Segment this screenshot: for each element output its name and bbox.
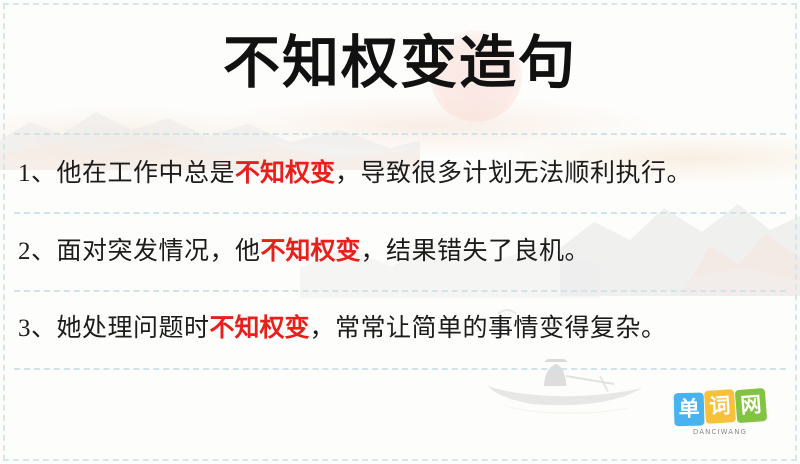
idiom-highlight-1: 不知权变: [235, 158, 335, 187]
sentence-row-3: 3、她处理问题时不知权变，常常让简单的事情变得复杂。: [18, 312, 784, 344]
separator-line-4: [14, 368, 786, 370]
separator-line-2: [14, 212, 786, 214]
sentence-text-before-1: 他在工作中总是: [57, 160, 236, 187]
sentence-text-after-1: ，导致很多计划无法顺利执行。: [335, 160, 692, 187]
slide-page: 不知权变造句 1、他在工作中总是不知权变，导致很多计划无法顺利执行。 2、面对突…: [0, 0, 800, 464]
sentence-text-before-3: 她处理问题时: [57, 315, 210, 342]
sentence-index-1: 1、: [18, 160, 57, 187]
logo-subtitle: DANCIWANG: [672, 428, 768, 436]
sentence-text-after-3: ，常常让简单的事情变得复杂。: [310, 315, 667, 342]
logo-tile-1: 单: [674, 393, 705, 427]
separator-line-3: [14, 290, 786, 292]
sentence-row-1: 1、他在工作中总是不知权变，导致很多计划无法顺利执行。: [18, 157, 784, 189]
separator-line-1: [14, 133, 786, 135]
sentence-index-3: 3、: [18, 315, 57, 342]
site-logo[interactable]: 单 词 网 DANCIWANG: [672, 390, 768, 444]
logo-tiles: 单 词 网: [671, 387, 769, 427]
color-wash: [0, 96, 800, 216]
logo-tile-3: 网: [735, 388, 767, 423]
sentence-index-2: 2、: [18, 238, 57, 265]
sentence-text-after-2: ，结果错失了良机。: [361, 238, 591, 265]
idiom-highlight-3: 不知权变: [210, 313, 310, 342]
sentence-row-2: 2、面对突发情况，他不知权变，结果错失了良机。: [18, 235, 784, 267]
sentence-text-before-2: 面对突发情况，他: [57, 238, 261, 265]
boat-icon: [470, 352, 660, 420]
idiom-highlight-2: 不知权变: [261, 236, 361, 265]
page-title: 不知权变造句: [0, 33, 800, 93]
logo-tile-2: 词: [704, 389, 736, 424]
